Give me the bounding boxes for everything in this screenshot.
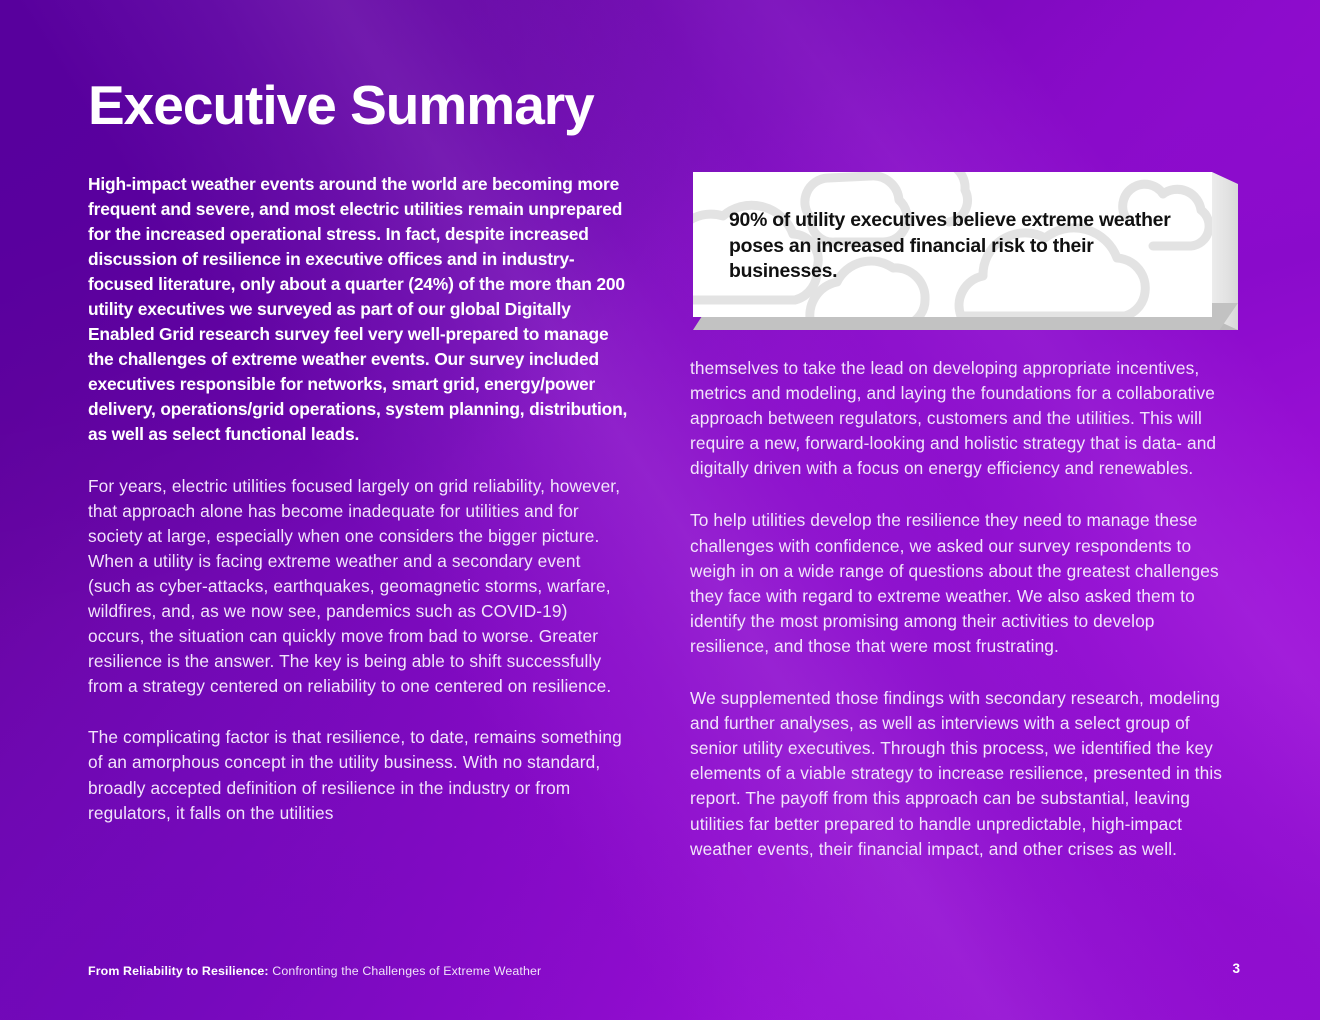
body-paragraph-right-3: We supplemented those findings with seco… xyxy=(690,686,1230,862)
document-page: Executive Summary High-impact weather ev… xyxy=(0,0,1320,1020)
left-text-column: High-impact weather events around the wo… xyxy=(88,172,628,826)
page-title: Executive Summary xyxy=(88,74,594,136)
footer-report-title: From Reliability to Resilience: xyxy=(88,964,269,978)
body-paragraph-left-1: For years, electric utilities focused la… xyxy=(88,474,628,700)
footer-report-subtitle: Confronting the Challenges of Extreme We… xyxy=(269,964,542,978)
statistic-callout-card: 90% of utility executives believe extrem… xyxy=(693,172,1230,317)
callout-quote-text: 90% of utility executives believe extrem… xyxy=(729,208,1188,285)
body-paragraph-right-1: themselves to take the lead on developin… xyxy=(690,356,1230,481)
page-number: 3 xyxy=(1212,961,1240,976)
footer: From Reliability to Resilience: Confront… xyxy=(88,963,541,979)
body-paragraph-left-2: The complicating factor is that resilien… xyxy=(88,725,628,825)
right-text-column: themselves to take the lead on developin… xyxy=(690,356,1230,889)
callout-card-face: 90% of utility executives believe extrem… xyxy=(693,172,1212,317)
body-paragraph-right-2: To help utilities develop the resilience… xyxy=(690,508,1230,659)
lead-paragraph: High-impact weather events around the wo… xyxy=(88,172,628,448)
